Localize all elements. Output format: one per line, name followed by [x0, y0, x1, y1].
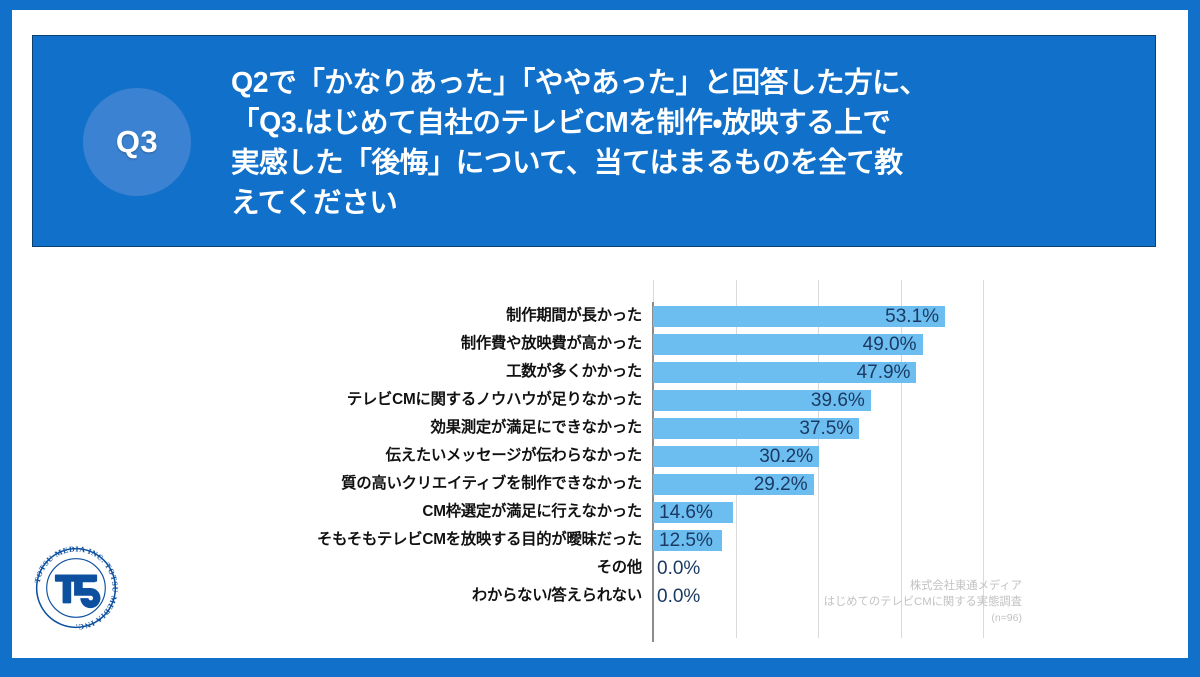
chart-row: 制作期間が長かった53.1%	[172, 302, 1022, 330]
bar-value-label: 39.6%	[811, 388, 865, 413]
question-header-box: Q3 Q2で「かなりあった」「ややあった」と回答した方に、 「Q3.はじめて自社…	[32, 35, 1156, 247]
bar-group: 29.2%	[653, 470, 814, 498]
category-label: テレビCMに関するノウハウが足りなかった	[172, 386, 642, 414]
category-label: 質の高いクリエイティブを制作できなかった	[172, 470, 642, 498]
bar-chart: 制作期間が長かった53.1%制作費や放映費が高かった49.0%工数が多くかかった…	[12, 262, 1188, 658]
category-label: 工数が多くかかった	[172, 358, 642, 386]
bar-group: 30.2%	[653, 442, 819, 470]
source-sample-size: (n=96)	[824, 610, 1022, 626]
chart-row: 効果測定が満足にできなかった37.5%	[172, 414, 1022, 442]
slide-canvas: Q3 Q2で「かなりあった」「ややあった」と回答した方に、 「Q3.はじめて自社…	[12, 10, 1188, 658]
bar-value-label: 14.6%	[659, 500, 713, 525]
bar-value-label: 0.0%	[657, 584, 700, 609]
chart-row: 質の高いクリエイティブを制作できなかった29.2%	[172, 470, 1022, 498]
category-label: わからない/答えられない	[172, 582, 642, 610]
category-label: そもそもテレビCMを放映する目的が曖昧だった	[172, 526, 642, 554]
category-label: 制作期間が長かった	[172, 302, 642, 330]
bar-group: 0.0%	[653, 554, 654, 582]
bar-group: 39.6%	[653, 386, 871, 414]
bar-value-label: 47.9%	[857, 360, 911, 385]
bar-value-label: 37.5%	[799, 416, 853, 441]
category-label: 制作費や放映費が高かった	[172, 330, 642, 358]
question-number-label: Q3	[116, 124, 158, 160]
question-text: Q2で「かなりあった」「ややあった」と回答した方に、 「Q3.はじめて自社のテレ…	[231, 63, 1129, 223]
chart-row: 伝えたいメッセージが伝わらなかった30.2%	[172, 442, 1022, 470]
chart-row: 制作費や放映費が高かった49.0%	[172, 330, 1022, 358]
bar-value-label: 0.0%	[657, 556, 700, 581]
chart-row: 工数が多くかかった47.9%	[172, 358, 1022, 386]
category-label: 伝えたいメッセージが伝わらなかった	[172, 442, 642, 470]
bar-group: 49.0%	[653, 330, 923, 358]
source-survey: はじめてのテレビCMに関する実態調査	[824, 594, 1022, 610]
bar-group: 37.5%	[653, 414, 859, 442]
bar-group: 47.9%	[653, 358, 916, 386]
chart-row: テレビCMに関するノウハウが足りなかった39.6%	[172, 386, 1022, 414]
bar-value-label: 29.2%	[754, 472, 808, 497]
category-label: 効果測定が満足にできなかった	[172, 414, 642, 442]
category-label: その他	[172, 554, 642, 582]
bar-group: 53.1%	[653, 302, 945, 330]
bar-group: 14.6%	[653, 498, 733, 526]
chart-row: そもそもテレビCMを放映する目的が曖昧だった12.5%	[172, 526, 1022, 554]
source-company: 株式会社東通メディア	[824, 578, 1022, 594]
chart-row: CM枠選定が満足に行えなかった14.6%	[172, 498, 1022, 526]
bar-group: 12.5%	[653, 526, 722, 554]
bar-value-label: 30.2%	[759, 444, 813, 469]
source-note: 株式会社東通メディア はじめてのテレビCMに関する実態調査 (n=96)	[824, 578, 1022, 626]
bar-value-label: 12.5%	[659, 528, 713, 553]
category-label: CM枠選定が満足に行えなかった	[172, 498, 642, 526]
question-number-badge: Q3	[83, 88, 191, 196]
bar-value-label: 49.0%	[863, 332, 917, 357]
bar-value-label: 53.1%	[885, 304, 939, 329]
totsu-media-logo: TOTSU MEDIA INC. TOTSU MEDIA INC.	[28, 540, 124, 636]
slide-root: Q3 Q2で「かなりあった」「ややあった」と回答した方に、 「Q3.はじめて自社…	[0, 0, 1200, 677]
bar-group: 0.0%	[653, 582, 654, 610]
